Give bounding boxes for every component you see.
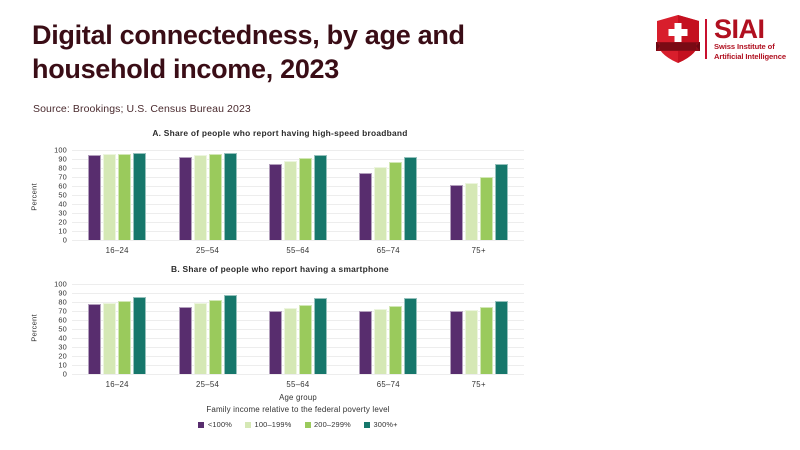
y-axis-tick-b-100: 100 [54, 280, 67, 289]
logo-subtitle-line1: Swiss Institute of [714, 42, 787, 51]
bar[interactable] [374, 167, 387, 240]
bar[interactable] [133, 153, 146, 240]
chart-b-xlabel: Age group [72, 393, 524, 402]
bar[interactable] [465, 310, 478, 374]
legend-swatch-icon [198, 422, 204, 428]
chart-a-title: A. Share of people who report having hig… [0, 128, 560, 138]
logo-text: SIAI Swiss Institute of Artificial Intel… [714, 17, 787, 62]
y-axis-tick-a-20: 20 [58, 218, 67, 227]
bar[interactable] [194, 303, 207, 374]
y-axis-tick-b-90: 90 [58, 289, 67, 298]
chart-panel-b: B. Share of people who report having a s… [0, 264, 800, 392]
bar-group-55-64 [261, 284, 335, 374]
bar[interactable] [299, 158, 312, 240]
logo-acronym: SIAI [714, 17, 787, 43]
bar[interactable] [374, 309, 387, 374]
page-title: Digital connectedness, by age and househ… [32, 18, 572, 86]
x-axis-tick-b: 55–64 [261, 380, 335, 389]
x-axis-tick-a: 16–24 [80, 246, 154, 255]
bar[interactable] [359, 173, 372, 241]
bar[interactable] [495, 301, 508, 374]
y-axis-tick-a-90: 90 [58, 155, 67, 164]
x-axis-tick-b: 16–24 [80, 380, 154, 389]
legend-item[interactable]: 200–299% [305, 420, 351, 429]
bar[interactable] [389, 306, 402, 374]
bar[interactable] [359, 311, 372, 374]
bar[interactable] [209, 154, 222, 240]
y-axis-tick-a-30: 30 [58, 209, 67, 218]
legend-items: <100%100–199%200–299%300%+ [72, 420, 524, 429]
x-axis-tick-a: 75+ [442, 246, 516, 255]
x-axis-tick-b: 65–74 [351, 380, 425, 389]
bar[interactable] [495, 164, 508, 241]
bar[interactable] [284, 161, 297, 240]
x-axis-tick-a: 25–54 [171, 246, 245, 255]
legend-swatch-icon [305, 422, 311, 428]
bar[interactable] [465, 183, 478, 240]
y-axis-tick-a-0: 0 [63, 236, 67, 245]
bar[interactable] [299, 305, 312, 374]
bar-group-25-54 [171, 284, 245, 374]
y-axis-tick-a-50: 50 [58, 191, 67, 200]
bar-group-65-74 [351, 150, 425, 240]
siai-logo: SIAI Swiss Institute of Artificial Intel… [655, 13, 787, 65]
bar-group-25-54 [171, 150, 245, 240]
bar[interactable] [269, 164, 282, 240]
y-axis-tick-b-0: 0 [63, 370, 67, 379]
slide-header: Digital connectedness, by age and househ… [0, 0, 800, 120]
legend-item[interactable]: 300%+ [364, 420, 398, 429]
chart-b-title: B. Share of people who report having a s… [0, 264, 560, 274]
bar[interactable] [224, 153, 237, 240]
y-axis-tick-b-10: 10 [58, 361, 67, 370]
legend-item[interactable]: <100% [198, 420, 232, 429]
legend-title: Family income relative to the federal po… [72, 405, 524, 414]
bar[interactable] [88, 155, 101, 240]
y-axis-tick-a-40: 40 [58, 200, 67, 209]
slide-root: Digital connectedness, by age and househ… [0, 0, 800, 450]
bar[interactable] [118, 154, 131, 240]
bar[interactable] [284, 308, 297, 374]
chart-a-ylabel: Percent [30, 183, 39, 211]
bar[interactable] [88, 304, 101, 374]
bar[interactable] [480, 307, 493, 374]
bar-groups [72, 284, 524, 374]
bar[interactable] [118, 301, 131, 374]
bar[interactable] [179, 157, 192, 240]
y-axis-tick-b-20: 20 [58, 352, 67, 361]
legend-label: 100–199% [255, 420, 292, 429]
y-axis-tick-a-60: 60 [58, 182, 67, 191]
chart-legend: Family income relative to the federal po… [72, 405, 524, 429]
swiss-shield-icon [655, 14, 701, 64]
y-axis-tick-a-10: 10 [58, 227, 67, 236]
y-axis-tick-b-30: 30 [58, 343, 67, 352]
bar-group-75+ [442, 150, 516, 240]
y-axis-tick-b-40: 40 [58, 334, 67, 343]
y-axis-tick-b-80: 80 [58, 298, 67, 307]
bar[interactable] [450, 311, 463, 374]
gridline: 0 [72, 240, 524, 241]
bar-group-75+ [442, 284, 516, 374]
chart-a-xticks: 16–2425–5455–6465–7475+ [72, 246, 524, 255]
x-axis-tick-b: 25–54 [171, 380, 245, 389]
x-axis-tick-a: 55–64 [261, 246, 335, 255]
legend-label: 200–299% [314, 420, 351, 429]
bar[interactable] [194, 155, 207, 241]
y-axis-tick-b-60: 60 [58, 316, 67, 325]
bar[interactable] [450, 185, 463, 240]
x-axis-tick-b: 75+ [442, 380, 516, 389]
source-note: Source: Brookings; U.S. Census Bureau 20… [33, 103, 251, 115]
bar-group-16-24 [80, 150, 154, 240]
x-axis-tick-a: 65–74 [351, 246, 425, 255]
bar[interactable] [480, 177, 493, 240]
chart-panel-a: A. Share of people who report having hig… [0, 128, 800, 266]
bar[interactable] [209, 300, 222, 374]
bar[interactable] [314, 298, 327, 375]
bar-groups [72, 150, 524, 240]
legend-swatch-icon [364, 422, 370, 428]
y-axis-tick-a-80: 80 [58, 164, 67, 173]
legend-item[interactable]: 100–199% [245, 420, 291, 429]
chart-b-xticks: 16–2425–5455–6465–7475+ [72, 380, 524, 389]
chart-a-plot-area: 1009080706050403020100 [72, 150, 524, 241]
bar[interactable] [224, 295, 237, 374]
bar[interactable] [404, 298, 417, 375]
bar[interactable] [269, 311, 282, 374]
y-axis-tick-a-100: 100 [54, 146, 67, 155]
bar[interactable] [133, 297, 146, 374]
logo-subtitle-line2: Artificial Intelligence [714, 52, 787, 61]
bar[interactable] [404, 157, 417, 240]
bar-group-65-74 [351, 284, 425, 374]
bar[interactable] [314, 155, 327, 240]
legend-swatch-icon [245, 422, 251, 428]
logo-divider [705, 19, 707, 59]
bar[interactable] [103, 154, 116, 240]
y-axis-tick-a-70: 70 [58, 173, 67, 182]
bar-group-16-24 [80, 284, 154, 374]
chart-b-ylabel: Percent [30, 314, 39, 342]
legend-label: 300%+ [373, 420, 397, 429]
bar[interactable] [389, 162, 402, 240]
y-axis-tick-b-70: 70 [58, 307, 67, 316]
gridline: 0 [72, 374, 524, 375]
bar-group-55-64 [261, 150, 335, 240]
bar[interactable] [179, 307, 192, 375]
bar[interactable] [103, 303, 116, 374]
chart-b-plot-area: 1009080706050403020100 [72, 284, 524, 375]
legend-label: <100% [208, 420, 232, 429]
y-axis-tick-b-50: 50 [58, 325, 67, 334]
